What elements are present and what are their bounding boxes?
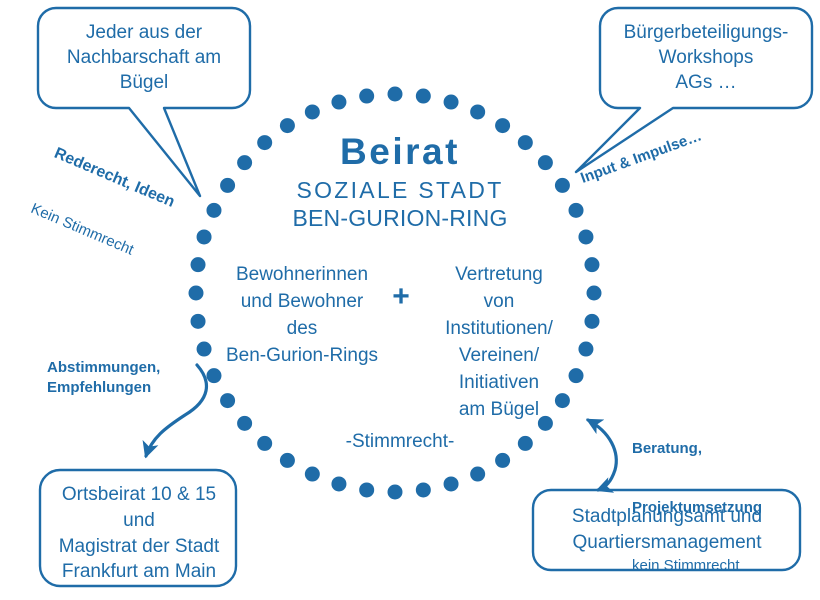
ring-dot [578, 229, 593, 244]
ring-dot [206, 368, 221, 383]
diagram-canvas: Jeder aus der Nachbarschaft am Bügel Bür… [0, 0, 820, 600]
ring-dot [206, 203, 221, 218]
ring-dot [416, 89, 431, 104]
ring-dot [359, 482, 374, 497]
ring-dot [518, 436, 533, 451]
ring-dot [305, 467, 320, 482]
annotation-line-2: Projektumsetzung [632, 498, 762, 518]
ring-dot [191, 314, 206, 329]
ring-dot [416, 482, 431, 497]
ring-dot [220, 393, 235, 408]
ring-dot [388, 485, 403, 500]
ring-dot [388, 87, 403, 102]
ring-dot [189, 286, 204, 301]
annotation-abstimmungen-empfehlungen: Abstimmungen, Empfehlungen [47, 358, 160, 397]
ring-dot [359, 89, 374, 104]
ring-dot [495, 453, 510, 468]
ring-dot [331, 476, 346, 491]
ring-footer-stimmrecht: -Stimmrecht- [300, 430, 500, 454]
bubble-text-top-left: Jeder aus der Nachbarschaft am Bügel [46, 20, 242, 95]
page-title: Beirat [245, 128, 555, 175]
annotation-line-3: kein Stimmrecht [632, 556, 762, 576]
ring-dot [555, 178, 570, 193]
ring-dot [470, 104, 485, 119]
ring-dot [257, 436, 272, 451]
page-subtitle-ben-gurion-ring: BEN-GURION-RING [245, 204, 555, 233]
ring-dot [280, 453, 295, 468]
ring-dot [444, 476, 459, 491]
ring-dot [569, 203, 584, 218]
ring-dot [191, 257, 206, 272]
ring-dot [331, 95, 346, 110]
annotation-line-2: Kein Stimmrecht [28, 199, 154, 267]
ring-dot [587, 286, 602, 301]
ring-dot [197, 229, 212, 244]
annotation-beratung-projektumsetzung: Beratung, Projektumsetzung kein Stimmrec… [632, 400, 762, 600]
annotation-line-1: Rederecht, Ideen [51, 144, 178, 214]
arrow-path-bottom-right [588, 420, 616, 490]
ring-dot [237, 416, 252, 431]
ring-dot [470, 467, 485, 482]
page-subtitle-soziale-stadt: SOZIALE STADT [245, 176, 555, 205]
annotation-line-1: Beratung, [632, 439, 762, 459]
box-text-bottom-left: Ortsbeirat 10 & 15 und Magistrat der Sta… [44, 482, 234, 585]
ring-column-residents: Bewohnerinnen und Bewohner des Ben-Gurio… [213, 262, 391, 370]
bubble-text-top-right: Bürgerbeteiligungs- Workshops AGs … [608, 20, 804, 95]
ring-dot [444, 95, 459, 110]
arrow-beratung-projektumsetzung [588, 420, 616, 490]
ring-dot [220, 178, 235, 193]
ring-column-institutions: Vertretung von Institutionen/ Vereinen/ … [410, 262, 588, 424]
ring-dot [305, 104, 320, 119]
ring-dot [197, 342, 212, 357]
